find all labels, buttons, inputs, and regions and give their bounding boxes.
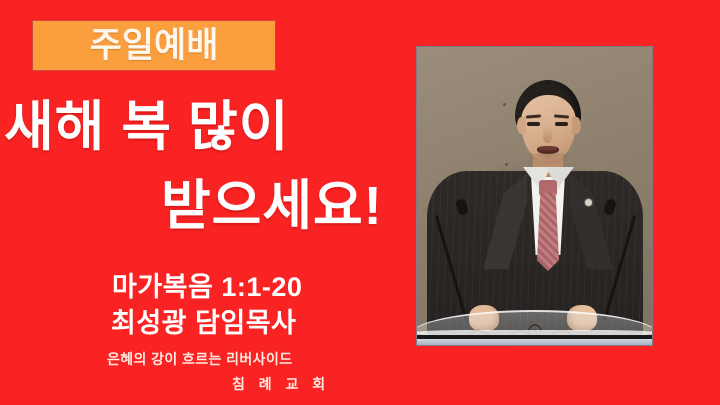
preacher-photo: A xyxy=(417,47,652,345)
eye-right xyxy=(555,122,568,126)
lapel-pin xyxy=(585,199,592,206)
eye-left xyxy=(527,122,540,126)
preacher-photo-content: A xyxy=(417,47,652,345)
wall-speck xyxy=(503,103,506,106)
sermon-title-slide: 주일예배 새해 복 많이 받으세요! 마가복음 1:1-20 최성광 담임목사 … xyxy=(0,0,720,405)
pulpit-foot xyxy=(417,339,652,345)
service-type-banner: 주일예배 xyxy=(33,21,275,70)
church-tagline: 은혜의 강이 흐르는 리버사이드 xyxy=(107,352,293,366)
ear-right xyxy=(572,117,581,134)
scripture-reference: 마가복음 1:1-20 xyxy=(112,274,302,301)
church-name: 침 례 교 회 xyxy=(232,377,330,391)
chin-shadow xyxy=(525,153,571,167)
nose xyxy=(543,127,552,143)
greeting-line-1: 새해 복 많이 xyxy=(4,100,289,154)
speaker-name: 최성광 담임목사 xyxy=(111,310,296,337)
ear-left xyxy=(517,117,526,134)
service-type-label: 주일예배 xyxy=(90,28,219,63)
greeting-line-2: 받으세요! xyxy=(161,179,383,233)
